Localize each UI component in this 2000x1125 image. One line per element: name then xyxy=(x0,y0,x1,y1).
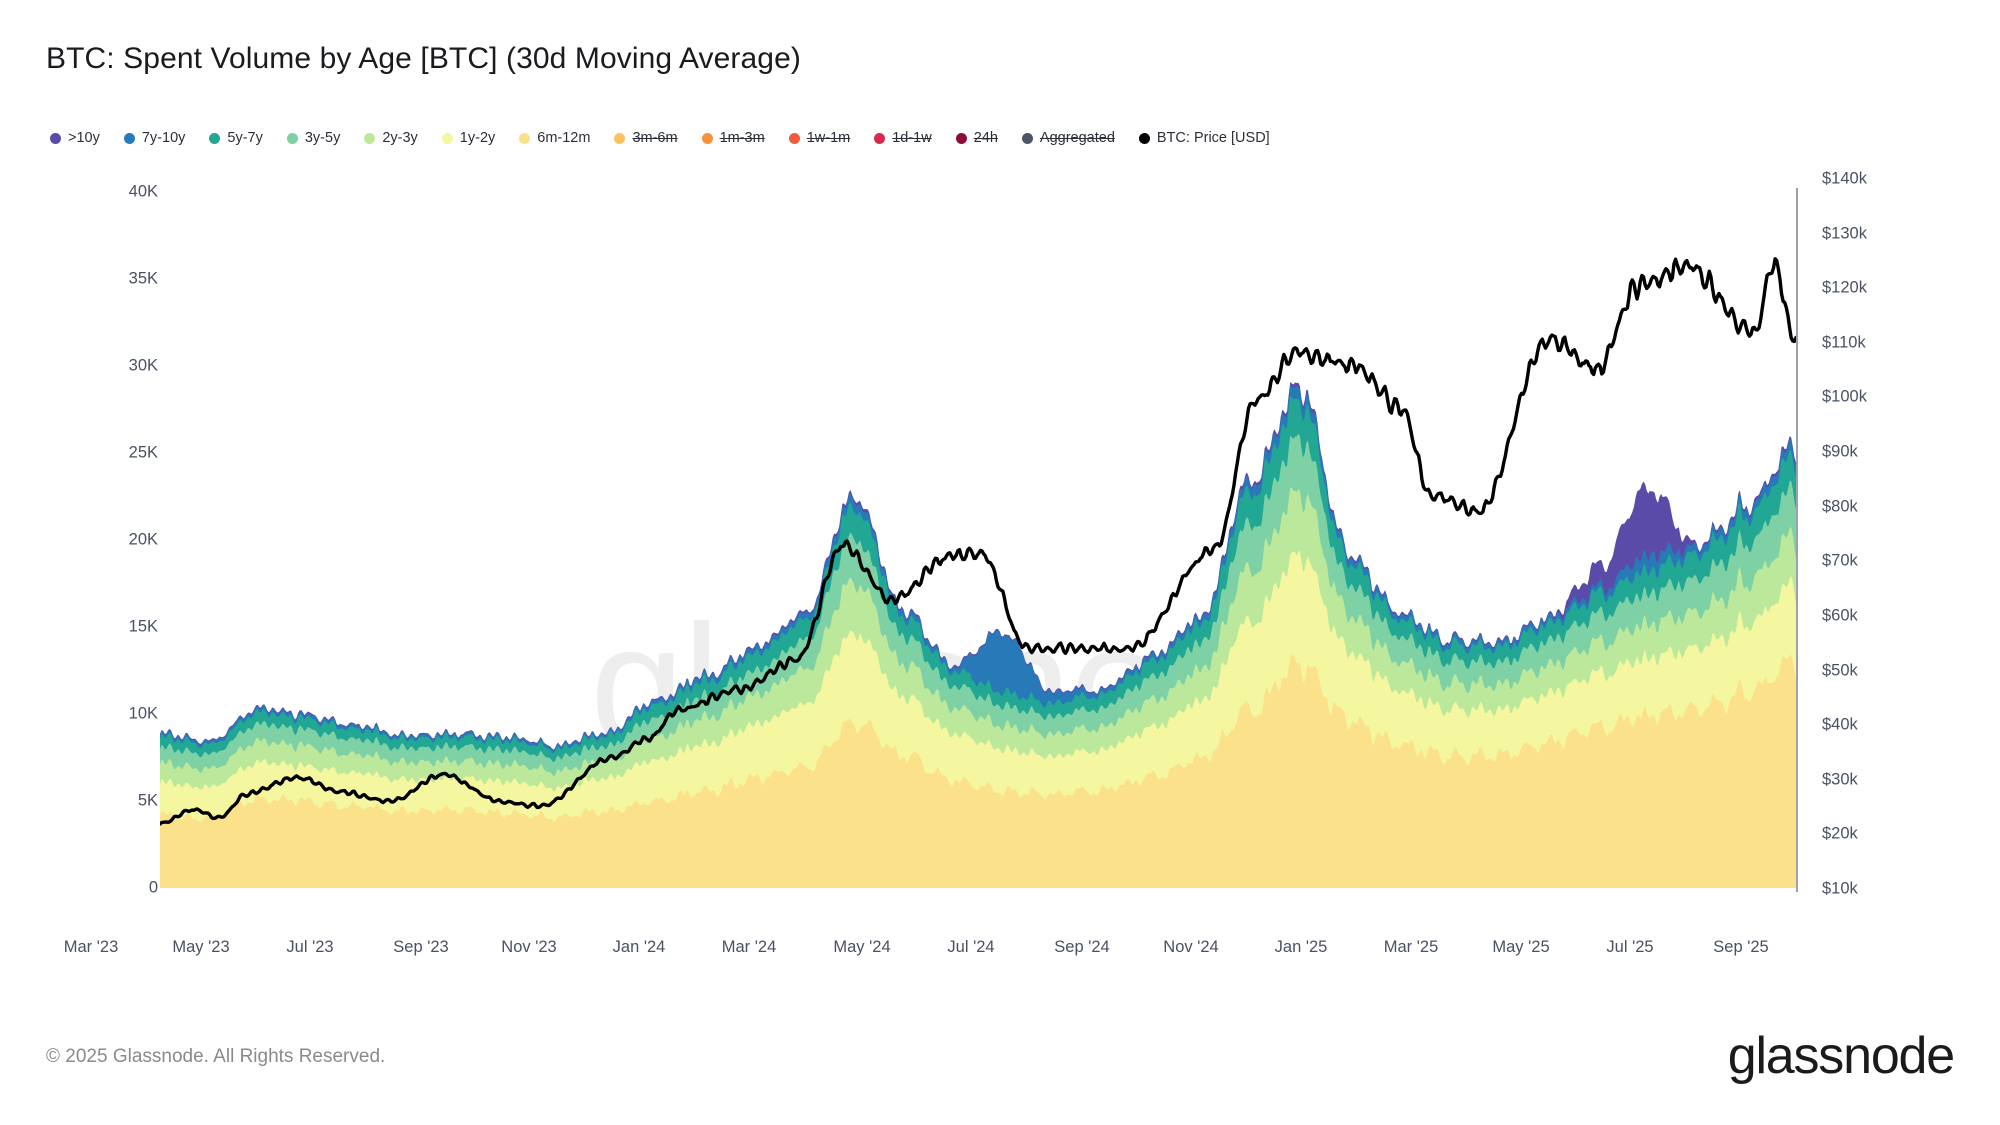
legend-item-1m-3m[interactable]: 1m-3m xyxy=(702,131,765,146)
legend-item-label: 24h xyxy=(974,131,998,146)
y-left-tick-label: 25K xyxy=(129,444,158,463)
legend-item-3m-6m[interactable]: 3m-6m xyxy=(614,131,677,146)
copyright-text: © 2025 Glassnode. All Rights Reserved. xyxy=(46,1046,385,1068)
y-right-tick-label: $50k xyxy=(1822,661,1858,680)
legend-item-5y-7y[interactable]: 5y-7y xyxy=(209,131,262,146)
y-left-tick-label: 5K xyxy=(138,792,158,811)
y-left-tick-label: 40K xyxy=(129,183,158,202)
chart-page: BTC: Spent Volume by Age [BTC] (30d Movi… xyxy=(0,0,2000,1125)
legend-swatch-icon xyxy=(789,133,800,144)
right-axis-spine xyxy=(1796,188,1798,892)
legend-item-1y-2y[interactable]: 1y-2y xyxy=(442,131,495,146)
y-right-tick-label: $10k xyxy=(1822,880,1858,899)
x-tick-label: Mar '23 xyxy=(64,938,119,957)
x-tick-label: Sep '25 xyxy=(1713,938,1768,957)
legend-item-label: 1m-3m xyxy=(720,131,765,146)
x-tick-label: Sep '24 xyxy=(1054,938,1109,957)
y-right-tick-label: $30k xyxy=(1822,770,1858,789)
x-tick-label: Mar '25 xyxy=(1384,938,1439,957)
legend-item-1w-1m[interactable]: 1w-1m xyxy=(789,131,851,146)
legend-item-label: Aggregated xyxy=(1040,131,1115,146)
legend-swatch-icon xyxy=(1139,133,1150,144)
legend-item-label: 1w-1m xyxy=(807,131,851,146)
legend-item-btc-price-usd[interactable]: BTC: Price [USD] xyxy=(1139,131,1270,146)
y-left-tick-label: 15K xyxy=(129,618,158,637)
x-axis: Mar '23May '23Jul '23Sep '23Nov '23Jan '… xyxy=(0,938,2000,962)
y-right-tick-label: $120k xyxy=(1822,279,1867,298)
legend-item-label: 1d-1w xyxy=(892,131,932,146)
x-tick-label: Mar '24 xyxy=(722,938,777,957)
legend-item-label: 3m-6m xyxy=(632,131,677,146)
legend-swatch-icon xyxy=(287,133,298,144)
chart-legend[interactable]: >10y7y-10y5y-7y3y-5y2y-3y1y-2y6m-12m3m-6… xyxy=(50,127,1294,149)
legend-item-2y-3y[interactable]: 2y-3y xyxy=(364,131,417,146)
glassnode-logo: glassnode xyxy=(1728,1030,1954,1082)
legend-swatch-icon xyxy=(442,133,453,144)
legend-swatch-icon xyxy=(519,133,530,144)
x-tick-label: Nov '24 xyxy=(1163,938,1218,957)
x-tick-label: Jan '25 xyxy=(1275,938,1328,957)
legend-item-label: 1y-2y xyxy=(460,131,495,146)
legend-item-1d-1w[interactable]: 1d-1w xyxy=(874,131,932,146)
legend-swatch-icon xyxy=(50,133,61,144)
x-tick-label: Jul '23 xyxy=(286,938,333,957)
legend-item-label: >10y xyxy=(68,131,100,146)
y-right-tick-label: $70k xyxy=(1822,552,1858,571)
y-left-tick-label: 20K xyxy=(129,531,158,550)
x-tick-label: Jan '24 xyxy=(613,938,666,957)
y-left-tick-label: 0 xyxy=(149,879,158,898)
x-tick-label: Jul '24 xyxy=(947,938,994,957)
legend-swatch-icon xyxy=(702,133,713,144)
legend-item-6m-12m[interactable]: 6m-12m xyxy=(519,131,590,146)
y-right-tick-label: $20k xyxy=(1822,825,1858,844)
legend-swatch-icon xyxy=(364,133,375,144)
legend-item-label: 6m-12m xyxy=(537,131,590,146)
legend-item-label: 5y-7y xyxy=(227,131,262,146)
plot-area: glassnode xyxy=(160,180,1796,896)
legend-swatch-icon xyxy=(209,133,220,144)
x-tick-label: May '25 xyxy=(1492,938,1549,957)
y-right-tick-label: $100k xyxy=(1822,388,1867,407)
legend-item-label: BTC: Price [USD] xyxy=(1157,131,1270,146)
legend-item-10y[interactable]: >10y xyxy=(50,131,100,146)
legend-item-label: 2y-3y xyxy=(382,131,417,146)
legend-item-aggregated[interactable]: Aggregated xyxy=(1022,131,1115,146)
x-tick-label: Sep '23 xyxy=(393,938,448,957)
y-right-tick-label: $80k xyxy=(1822,497,1858,516)
stacked-area-chart xyxy=(160,180,1796,896)
x-tick-label: May '23 xyxy=(172,938,229,957)
y-right-tick-label: $60k xyxy=(1822,606,1858,625)
legend-item-24h[interactable]: 24h xyxy=(956,131,998,146)
legend-item-3y-5y[interactable]: 3y-5y xyxy=(287,131,340,146)
y-right-tick-label: $110k xyxy=(1822,333,1866,352)
legend-swatch-icon xyxy=(1022,133,1033,144)
legend-swatch-icon xyxy=(874,133,885,144)
y-left-tick-label: 30K xyxy=(129,357,158,376)
x-tick-label: Nov '23 xyxy=(501,938,556,957)
legend-swatch-icon xyxy=(614,133,625,144)
y-right-tick-label: $140k xyxy=(1822,170,1867,189)
y-left-tick-label: 10K xyxy=(129,705,158,724)
y-right-tick-label: $90k xyxy=(1822,443,1858,462)
y-left-tick-label: 35K xyxy=(129,270,158,289)
x-tick-label: Jul '25 xyxy=(1606,938,1653,957)
legend-item-label: 3y-5y xyxy=(305,131,340,146)
x-tick-label: May '24 xyxy=(833,938,890,957)
y-right-tick-label: $130k xyxy=(1822,224,1867,243)
y-right-tick-label: $40k xyxy=(1822,716,1858,735)
page-title: BTC: Spent Volume by Age [BTC] (30d Movi… xyxy=(46,42,801,76)
legend-swatch-icon xyxy=(956,133,967,144)
